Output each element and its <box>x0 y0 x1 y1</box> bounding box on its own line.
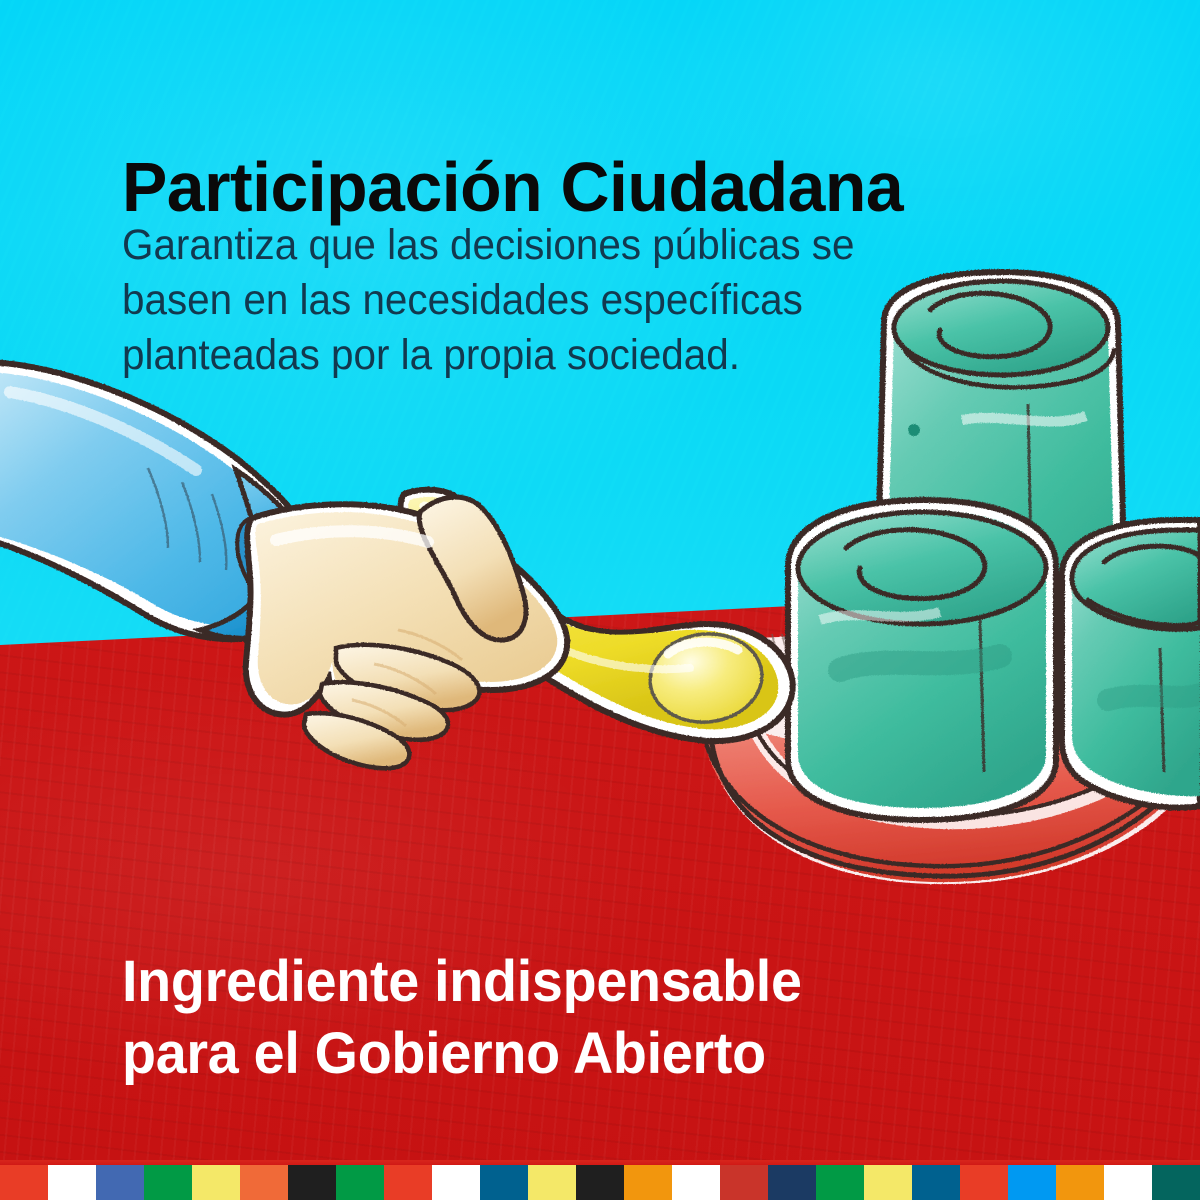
sdg-color-segment <box>480 1165 528 1200</box>
sdg-color-segment <box>864 1165 912 1200</box>
poster-canvas: Participación Ciudadana Garantiza que la… <box>0 0 1200 1200</box>
sdg-color-segment <box>144 1165 192 1200</box>
sdg-color-segment <box>336 1165 384 1200</box>
sdg-color-bar <box>0 1165 1200 1200</box>
sdg-color-segment <box>816 1165 864 1200</box>
sdg-color-segment <box>912 1165 960 1200</box>
subtitle-line-2: basen en las necesidades específicas <box>122 273 949 328</box>
sdg-color-segment <box>528 1165 576 1200</box>
tagline-line-1: Ingrediente indispensable <box>122 946 1082 1018</box>
sdg-color-segment <box>768 1165 816 1200</box>
sdg-color-segment <box>672 1165 720 1200</box>
hand-illustration <box>246 497 567 768</box>
sdg-color-segment <box>1152 1165 1200 1200</box>
sdg-color-segment <box>240 1165 288 1200</box>
sdg-color-segment <box>384 1165 432 1200</box>
sdg-color-segment <box>432 1165 480 1200</box>
page-title: Participación Ciudadana <box>122 150 1092 224</box>
sdg-color-segment <box>624 1165 672 1200</box>
sdg-color-segment <box>1104 1165 1152 1200</box>
subtitle-block: Garantiza que las decisiones públicas se… <box>122 218 949 383</box>
sdg-color-segment <box>1056 1165 1104 1200</box>
sdg-color-segment <box>0 1165 48 1200</box>
sdg-color-segment <box>192 1165 240 1200</box>
sdg-color-segment <box>96 1165 144 1200</box>
tagline-block: Ingrediente indispensable para el Gobier… <box>122 946 1082 1090</box>
sdg-color-segment <box>960 1165 1008 1200</box>
subtitle-line-1: Garantiza que las decisiones públicas se <box>122 218 949 273</box>
sdg-color-segment <box>576 1165 624 1200</box>
sdg-color-segment <box>720 1165 768 1200</box>
subtitle-line-3: planteadas por la propia sociedad. <box>122 328 949 383</box>
sdg-color-segment <box>288 1165 336 1200</box>
sdg-color-segment <box>48 1165 96 1200</box>
sdg-color-segment <box>1008 1165 1056 1200</box>
tagline-line-2: para el Gobierno Abierto <box>122 1018 1082 1090</box>
